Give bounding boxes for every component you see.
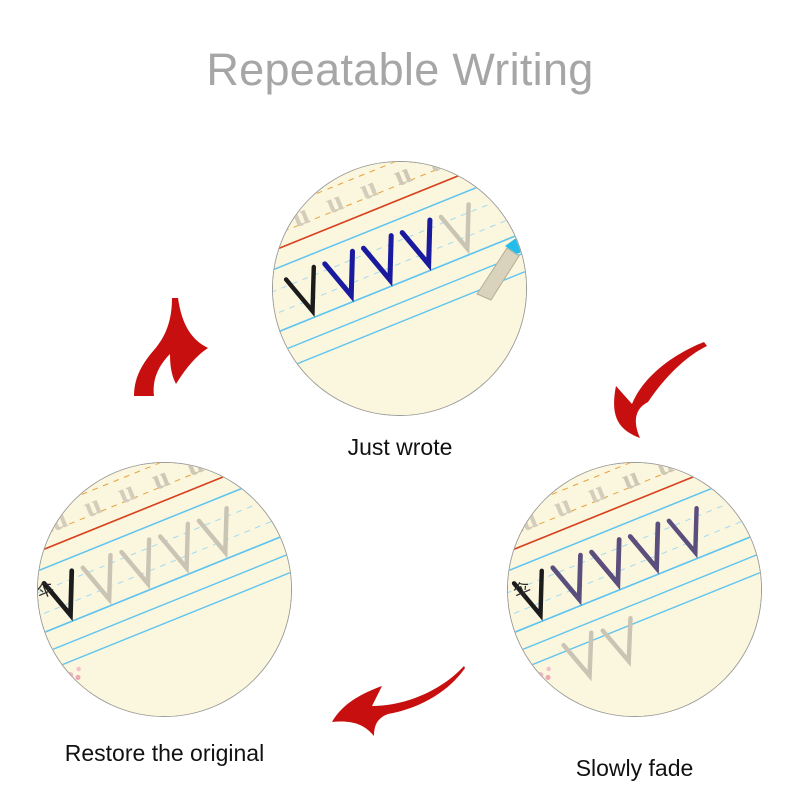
arrow-right-to-left-icon bbox=[330, 662, 465, 740]
infographic-stage: Repeatable Writing bbox=[0, 0, 800, 800]
pen-tip-icon bbox=[471, 232, 526, 302]
caption-slowly-fade: Slowly fade bbox=[508, 755, 761, 782]
ruled-paper-restore-the-original: u u u u u u bbox=[38, 463, 291, 716]
arrow-left-to-top-icon bbox=[128, 296, 228, 396]
step-circle-restore-the-original: u u u u u u bbox=[38, 463, 291, 716]
ruled-paper-slowly-fade: u u u u u u bbox=[508, 463, 761, 716]
step-circle-just-wrote: u u u u u u bbox=[273, 162, 526, 415]
step-circle-slowly-fade: u u u u u u bbox=[508, 463, 761, 716]
page-title: Repeatable Writing bbox=[0, 44, 800, 96]
arrow-top-to-right-icon bbox=[592, 338, 707, 443]
caption-restore-the-original: Restore the original bbox=[38, 740, 291, 767]
